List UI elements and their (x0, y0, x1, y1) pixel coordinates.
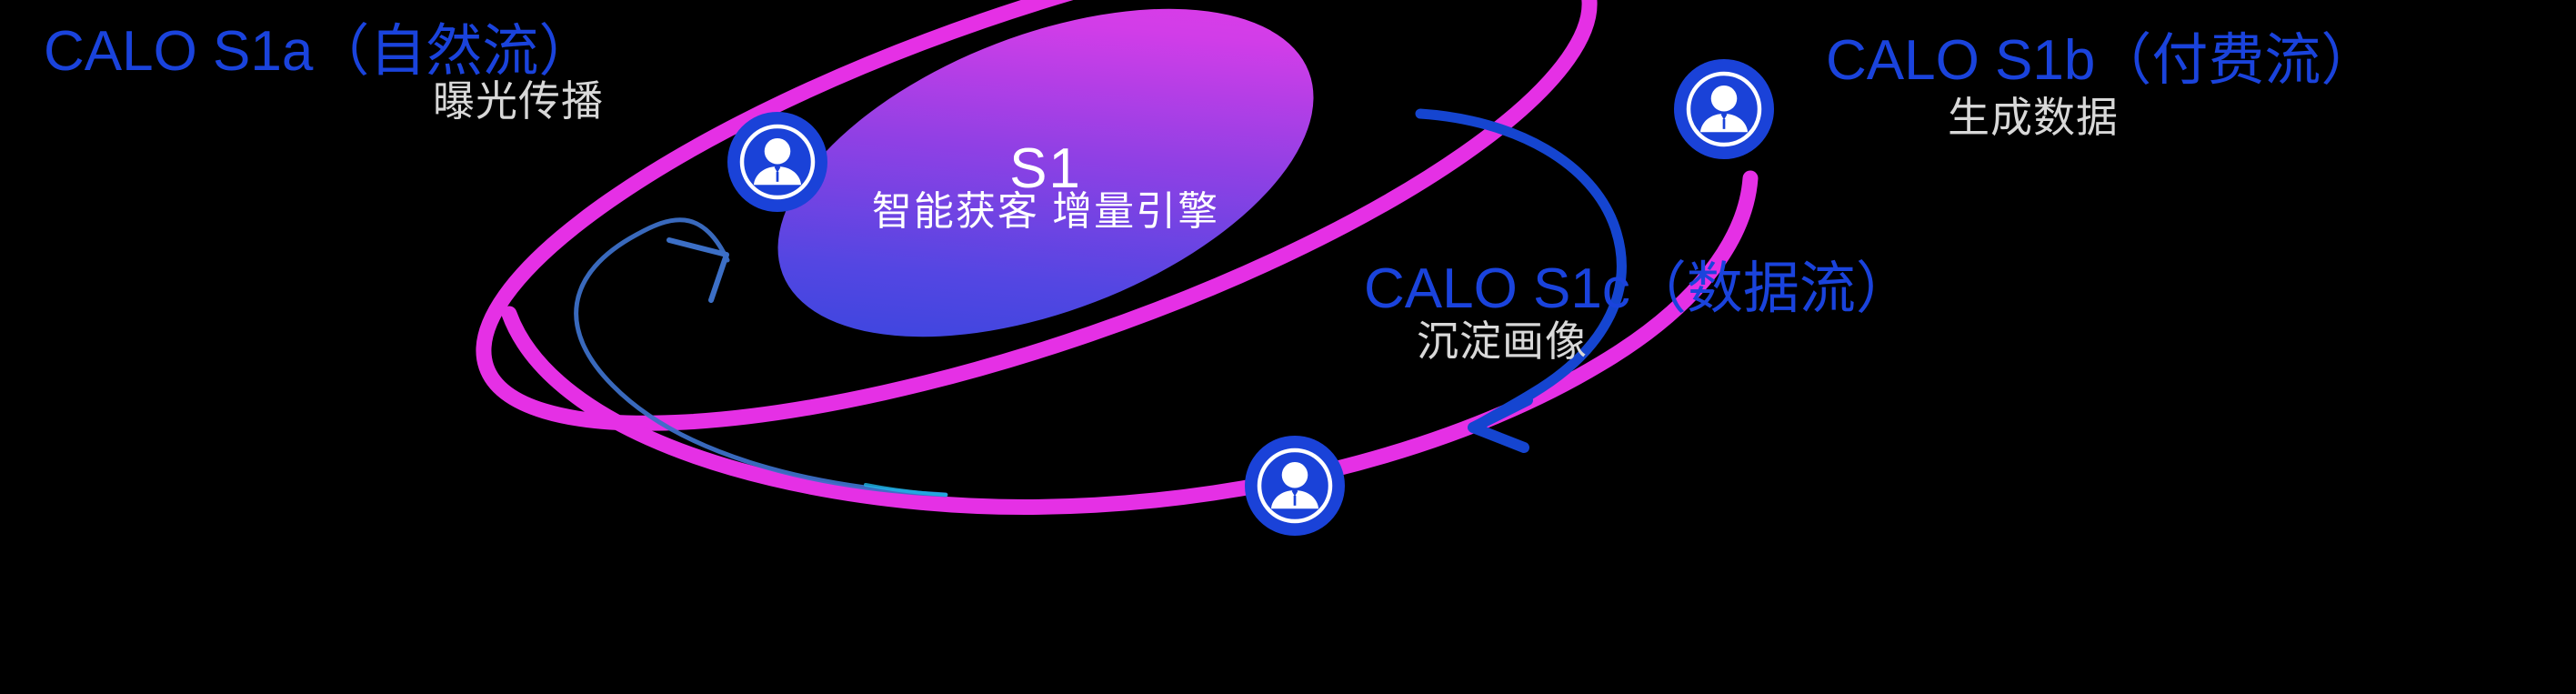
node-label-s1b: CALO S1b（付费流） (1826, 33, 2377, 89)
node-label-s1a: CALO S1a（自然流） (44, 24, 595, 80)
node-badge-s1a[interactable] (727, 112, 827, 212)
node-sublabel-s1a: 曝光传播 (433, 80, 604, 122)
node-sublabel-s1b: 生成数据 (1948, 96, 2119, 138)
node-label-s1c: CALO S1c（数据流） (1364, 261, 1912, 317)
node-badge-s1c[interactable] (1245, 436, 1345, 536)
node-sublabel-s1c: 沉淀画像 (1417, 320, 1588, 362)
diagram-canvas: S1 智能获客 增量引擎 CALO S1a（自然流） 曝光传播 CALO S1b… (0, 0, 2576, 694)
node-badge-s1b[interactable] (1674, 59, 1774, 159)
orbit-diagram (0, 0, 2576, 694)
